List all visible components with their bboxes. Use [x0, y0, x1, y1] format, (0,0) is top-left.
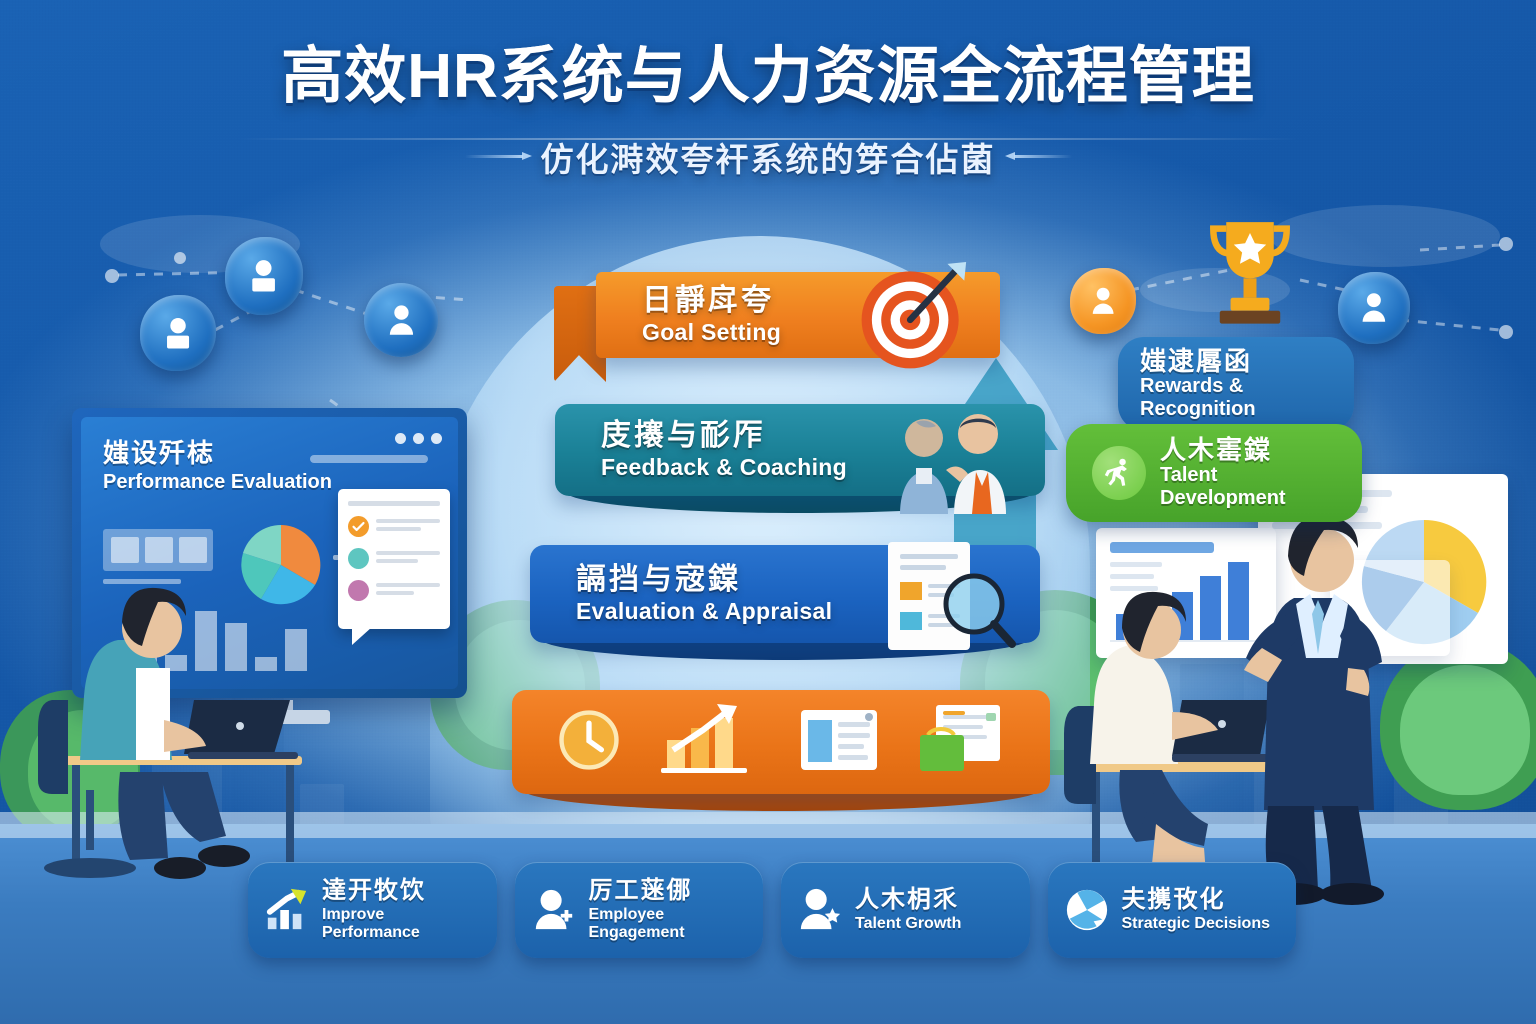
- growth-chart-icon[interactable]: [659, 704, 759, 781]
- badge-label-cn: 人木枂乑: [855, 887, 961, 912]
- user-icon: [380, 299, 423, 342]
- funnel-toolbar-bar[interactable]: [512, 690, 1050, 794]
- badge-talent-development[interactable]: 人木寚鏿 Talent Development: [1066, 424, 1362, 522]
- network-node-avatar[interactable]: [364, 283, 438, 357]
- badge-label: 媸逮厬函 Rewards & Recognition: [1140, 347, 1332, 421]
- badge-label-en: Strategic Decisions: [1122, 915, 1271, 933]
- user-plus-icon: [531, 887, 577, 933]
- document-magnifier-icon: [878, 538, 1018, 656]
- badge-label: 人木枂乑 Talent Growth: [855, 887, 961, 932]
- badge-label: 達开牧饮 Improve Performance: [322, 878, 481, 941]
- user-icon: [1084, 282, 1122, 320]
- network-node-avatar[interactable]: [225, 237, 303, 315]
- header: 高效HR系统与人力资源全流程管理 仿化溡效夸衦系统的笌合佔菌: [0, 44, 1536, 181]
- subtitle-dash-left: [465, 155, 523, 158]
- badge-label-cn: 達开牧饮: [322, 878, 481, 903]
- badge-label-en: Talent Development: [1160, 464, 1336, 510]
- badge-label-cn: 夫㩗攼化: [1122, 887, 1271, 912]
- bar-chart-arrow-icon: [264, 887, 310, 933]
- page-title: 高效HR系统与人力资源全流程管理: [0, 44, 1536, 111]
- badge-talent-growth[interactable]: 人木枂乑 Talent Growth: [781, 862, 1030, 958]
- badge-label-en: Improve Performance: [322, 906, 481, 942]
- network-node-avatar[interactable]: [1338, 272, 1410, 344]
- folder-envelope-icon[interactable]: [918, 705, 1004, 780]
- subtitle-row: 仿化溡效夸衦系统的笌合佔菌: [0, 133, 1536, 181]
- pie-compass-icon: [1064, 887, 1110, 933]
- badge-label: 厉工蒾㑚 Employee Engagement: [589, 878, 748, 941]
- running-person-icon: [1092, 446, 1146, 500]
- user-icon: [1353, 287, 1395, 329]
- badge-label-en: Employee Engagement: [589, 906, 748, 942]
- badge-label-cn: 媸逮厬函: [1140, 347, 1332, 375]
- bottom-badges: 達开牧饮 Improve Performance 厉工蒾㑚 Employee E…: [248, 862, 1296, 958]
- badge-label-cn: 人木寚鏿: [1160, 436, 1336, 464]
- user-star-icon: [797, 887, 843, 933]
- target-icon: [856, 262, 968, 374]
- badge-label-en: Rewards & Recognition: [1140, 375, 1332, 421]
- user-icon: [241, 253, 286, 298]
- infographic-canvas: 高效HR系统与人力资源全流程管理 仿化溡效夸衦系统的笌合佔菌: [0, 0, 1536, 1024]
- badge-label: 夫㩗攼化 Strategic Decisions: [1122, 887, 1271, 932]
- clock-icon[interactable]: [558, 709, 620, 776]
- band-face: [512, 690, 1050, 794]
- document-card-icon[interactable]: [799, 708, 879, 777]
- trophy-icon: [1196, 208, 1304, 340]
- coaching-people-icon: [880, 410, 1030, 514]
- network-node-avatar[interactable]: [140, 295, 216, 371]
- badge-improve-performance[interactable]: 達开牧饮 Improve Performance: [248, 862, 497, 958]
- subtitle-dash-right: [1014, 155, 1072, 158]
- badge-label: 人木寚鏿 Talent Development: [1160, 436, 1336, 510]
- badge-rewards-recognition[interactable]: 媸逮厬函 Rewards & Recognition: [1118, 337, 1354, 431]
- page-subtitle: 仿化溡效夸衦系统的笌合佔菌: [541, 133, 996, 181]
- badge-employee-engagement[interactable]: 厉工蒾㑚 Employee Engagement: [515, 862, 764, 958]
- network-node-avatar[interactable]: [1070, 268, 1136, 334]
- badge-label-cn: 厉工蒾㑚: [589, 878, 748, 903]
- user-icon: [156, 311, 200, 355]
- badge-label-en: Talent Growth: [855, 915, 961, 933]
- badge-strategic-decisions[interactable]: 夫㩗攼化 Strategic Decisions: [1048, 862, 1297, 958]
